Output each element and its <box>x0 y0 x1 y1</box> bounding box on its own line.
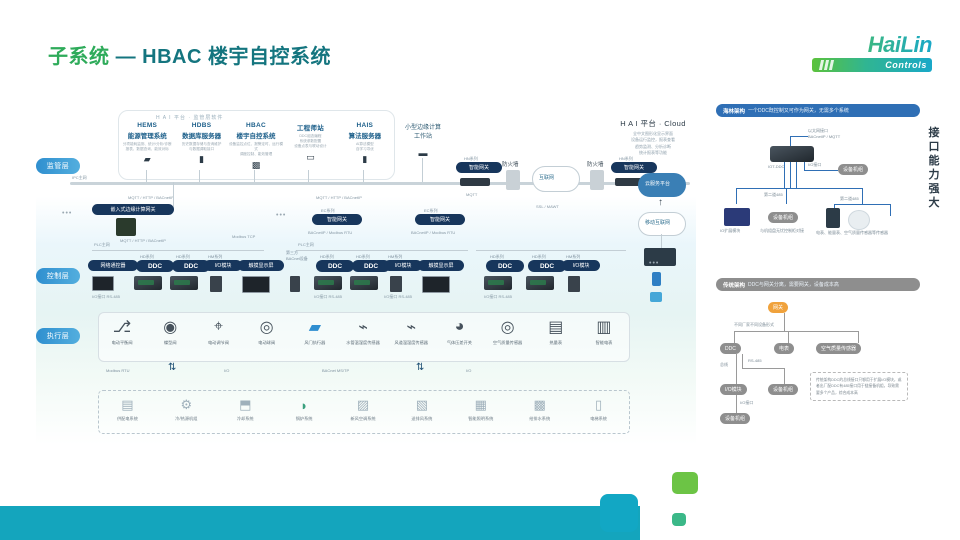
io-bus-label-2: I/O接口 RS-485 <box>314 294 342 300</box>
gateway-pill-left[interactable]: 智能网关 <box>456 162 502 173</box>
control-node-touch-2[interactable]: 触摸显示屏 <box>418 260 464 271</box>
ddc-device-3 <box>314 276 342 290</box>
hai-cloud-desc: 全中文图形化显示界面 设备运行监控，报表查看 趋势监测、分析诊断 统计报表等功能 <box>608 131 698 157</box>
io-bus-label-3: I/O接口 RS-485 <box>384 294 412 300</box>
supervisory-card-hdbs[interactable]: HDBS 数据库服务器 历史数据存储与查询维护 与数据调取接口 ▮ <box>174 122 228 171</box>
ball-valve-icon: ◎ <box>243 314 291 340</box>
gateway-label: 智能网关 <box>624 164 644 171</box>
traditional-link-label-bus: 总线 <box>720 362 728 368</box>
drop-line <box>146 170 147 182</box>
firewall-icon-left <box>506 170 520 190</box>
card-desc: 分项能耗监测、统计/分析/诊断 报表、数据查询、能效对标 <box>120 142 174 152</box>
exec-device-control-valve[interactable]: ⌖ 电动调节阀 <box>194 314 242 346</box>
server-rack-icon: ▩ <box>229 160 283 171</box>
ec-gateway-label: 智能网关 <box>327 216 347 223</box>
traditional-architecture-header: 传统架构 DDC与网关分离，需要网关，设备成本高 <box>716 278 920 291</box>
protocol-label-mqtt: MQTT <box>466 192 477 197</box>
power-supply-icon: ▤ <box>98 394 157 416</box>
workstation-icon: ▭ <box>283 152 337 163</box>
port-label-ethernet: 以太网接口 BACnetIP / MQTT <box>808 128 840 140</box>
system-cooling[interactable]: ⬒ 冷却系统 <box>216 394 275 422</box>
hailin-badge: 海林架构 <box>723 107 745 115</box>
modbus-tcp-label: Modbus TCP <box>232 234 255 239</box>
chiller-icon: ⚙ <box>157 394 216 416</box>
protocol-label-ssl: SSL / MAWT <box>536 204 559 209</box>
control-node-ddc-5[interactable]: DDC <box>486 260 524 272</box>
exec-device-label: 空气质量传感器 <box>484 340 532 346</box>
node-label: DDC <box>328 263 342 270</box>
exec-protocol-0: Modbus RTU <box>106 368 130 373</box>
ai-server-icon: ▮ <box>338 154 392 165</box>
cloud-platform-label: 云服务平台 <box>645 180 670 187</box>
monitor-icon: ▰ <box>120 154 174 165</box>
meter-device <box>826 208 840 228</box>
mobile-drop-line <box>661 234 662 248</box>
connector <box>784 313 785 331</box>
system-water[interactable]: ▩ 给排水系统 <box>510 394 569 422</box>
exec-device-label: 水管温湿度传感器 <box>339 340 387 346</box>
traditional-subtitle: DDC与网关分离，需要网关，设备成本高 <box>748 281 839 288</box>
deco-square-teal <box>672 513 686 526</box>
system-label: 冷却系统 <box>216 416 275 422</box>
layer-pill-supervisory: 监管层 <box>36 158 80 174</box>
layer-label-execution: 执行层 <box>47 331 70 341</box>
hailin-architecture-header: 海林架构 一个DDC既控制又可作为网关，无需多个系统 <box>716 104 920 117</box>
equipment-node-2[interactable]: 设备机组 <box>768 212 798 223</box>
exec-device-label: 电动平衡阀 <box>98 340 146 346</box>
connector <box>784 162 785 188</box>
traditional-link-label-io: I/O接口 <box>740 400 753 406</box>
system-boiler[interactable]: ◗ 锅炉系统 <box>275 394 334 422</box>
connector <box>862 188 863 204</box>
system-lighting[interactable]: ▦ 智能照明系统 <box>451 394 510 422</box>
card-desc: DDC组态编程 系统参数配置 设备点表与联动设计 <box>283 134 337 150</box>
bus-label-485-2: 第二道485 <box>840 196 859 202</box>
node-label: DDC <box>364 263 378 270</box>
damper-actuator-icon: ▰ <box>291 314 339 340</box>
system-ventilation[interactable]: ▧ 送排风系统 <box>392 394 451 422</box>
connector <box>734 331 735 343</box>
traditional-link-label-top: 不同厂家不同设备形式 <box>734 322 774 328</box>
connector <box>742 354 743 368</box>
bacnet-third-party-tag: 第三方 BACnet设备 <box>286 250 308 261</box>
card-code: HAIS <box>338 122 392 129</box>
system-chiller[interactable]: ⚙ 冷/热源机组 <box>157 394 216 422</box>
card-name: 能源管理系统 <box>120 130 174 140</box>
ellipsis-mid: ••• <box>276 212 286 219</box>
deco-square-green <box>672 472 698 494</box>
firewall-label-right: 防火墙 <box>587 160 604 168</box>
exec-device-pipe-sensor[interactable]: ⌁ 水管温湿度传感器 <box>339 314 387 346</box>
node-label: I/O模块 <box>725 386 742 393</box>
edge-workstation-node[interactable]: 小型边缘计算 工作站 ▬ <box>394 124 452 158</box>
card-name: 数据库服务器 <box>174 130 228 140</box>
hai-cloud-block: H A I 平台 · Cloud 全中文图形化显示界面 设备运行监控，报表查看 … <box>608 118 698 157</box>
equipment-node-1[interactable]: 设备机组 <box>838 164 868 175</box>
logo-subtext: Controls <box>885 60 927 70</box>
controller-device-1 <box>92 276 114 291</box>
node-label: 触摸显示屏 <box>428 262 453 269</box>
system-elevator[interactable]: ▯ 电梯系统 <box>569 394 628 422</box>
drop-line <box>308 170 309 182</box>
node-label: I/O模块 <box>215 262 232 269</box>
ahu-icon: ▨ <box>334 394 393 416</box>
system-label: 新风空调系统 <box>334 416 393 422</box>
node-label: 空气质量传感器 <box>821 345 856 352</box>
tablet-icon <box>650 292 662 302</box>
firewall-icon-right <box>590 170 604 190</box>
control-node-ddc-1[interactable]: DDC <box>136 260 174 272</box>
io-device-2 <box>390 276 402 292</box>
edge-pc-icon: ▬ <box>394 148 452 158</box>
server-icon: ▮ <box>174 154 228 165</box>
third-party-device <box>290 276 300 292</box>
deco-bar-cyan <box>0 506 640 540</box>
node-label: DDC <box>725 346 736 352</box>
drop-line <box>254 170 255 182</box>
node-label: 触摸显示屏 <box>248 262 273 269</box>
embedded-gateway-pill[interactable]: 嵌入式边缘计算网关 <box>92 204 174 215</box>
card-name: 算法服务器 <box>338 130 392 140</box>
card-desc: AI算法模型 自学习寻优 <box>338 142 392 152</box>
card-code: 工程师站 <box>283 122 337 132</box>
exec-device-pressure-switch[interactable]: ◕ 气体压差开关 <box>435 314 483 346</box>
trunk-bus <box>734 331 858 332</box>
page-title: 子系统 — HBAC 楼宇自控系统 <box>48 40 331 69</box>
air-quality-icon: ◎ <box>484 314 532 340</box>
traditional-gateway-node[interactable]: 网关 <box>768 302 788 313</box>
system-label: 电梯系统 <box>569 416 628 422</box>
leaf-label-3: 电表、能量表、空气质量传感器等传感器 <box>816 230 888 236</box>
traditional-meter-node[interactable]: 电表 <box>774 343 794 354</box>
butterfly-valve-icon: ◉ <box>146 314 194 340</box>
card-code: HEMS <box>120 122 174 129</box>
traditional-note-text: 传统架构DDC的总线接口只够用于扩展I/O模块，或者出厂配DDC有485接口用于… <box>816 377 902 396</box>
gateway-pill-right[interactable]: 智能网关 <box>611 162 657 173</box>
supervisory-card-engineer[interactable]: 工程师站 DDC组态编程 系统参数配置 设备点表与联动设计 ▭ <box>283 122 337 171</box>
execution-device-list: ⎇ 电动平衡阀 ◉ 蝶型阀 ⌖ 电动调节阀 ◎ 电动球阀 ▰ 风门执行器 ⌁ 水… <box>98 314 628 346</box>
protocol-label-right: MQTT / HTTP / BACnetIP <box>316 195 362 200</box>
protocol-label-main: MQTT / HTTP / BACnetIP <box>128 195 174 200</box>
mobile-internet-label: 移动互联网 <box>645 219 670 226</box>
node-label: 电表 <box>779 345 789 352</box>
elevator-icon: ▯ <box>569 394 628 416</box>
slide-root: 子系统 — HBAC 楼宇自控系统 HaiLin Controls 监管层 控制… <box>0 0 960 540</box>
connector <box>784 368 785 384</box>
exec-device-label: 风门执行器 <box>291 340 339 346</box>
exec-device-label: 热量表 <box>532 340 580 346</box>
node-label: DDC <box>184 263 198 270</box>
exec-device-damper-actuator[interactable]: ▰ 风门执行器 <box>291 314 339 346</box>
traditional-badge: 传统架构 <box>723 281 745 289</box>
water-system-icon: ▩ <box>510 394 569 416</box>
ddc-device-1 <box>134 276 162 290</box>
embedded-gateway-label: 嵌入式边缘计算网关 <box>110 206 155 213</box>
leaf-label-2: 与机组盘无忧控制柜对接 <box>760 228 804 234</box>
card-name: 楼宇自控系统 <box>229 130 283 140</box>
card-desc: 历史数据存储与查询维护 与数据调取接口 <box>174 142 228 152</box>
exec-device-duct-sensor[interactable]: ⌁ 风道温湿度传感器 <box>387 314 435 346</box>
io-device-3 <box>568 276 580 292</box>
pressure-switch-icon: ◕ <box>435 314 483 340</box>
node-label: 设备机组 <box>773 386 793 393</box>
hai-platform-strip: H A I 平台 · 监管层软件 <box>156 114 223 121</box>
connector <box>858 331 859 343</box>
iot-ddc-device[interactable] <box>770 146 814 162</box>
bottom-decoration <box>0 450 960 540</box>
system-label: 智能照明系统 <box>451 416 510 422</box>
protocol-label-gateway: MQTT / HTTP / BACnetIP <box>120 238 166 243</box>
node-label: I/O模块 <box>395 262 412 269</box>
bidirectional-arrow-icon-1: ⇅ <box>168 363 176 373</box>
control-valve-icon: ⌖ <box>194 314 242 340</box>
touchscreen-device-1 <box>242 276 270 293</box>
logo-wordmark: HaiLin <box>812 34 932 56</box>
ventilation-icon: ▧ <box>392 394 451 416</box>
exec-protocol-2: BACnet MS/TP <box>322 368 349 373</box>
connector <box>736 188 737 204</box>
control-node-ddc-6[interactable]: DDC <box>528 260 566 272</box>
bidirectional-arrow-icon-2: ⇅ <box>416 363 424 373</box>
air-quality-device <box>848 210 870 230</box>
ddc-device-5 <box>484 276 512 290</box>
node-label: DDC <box>540 263 554 270</box>
node-label: DDC <box>148 263 162 270</box>
control-node-io-2[interactable]: I/O模块 <box>384 260 422 271</box>
exec-device-label: 电动调节阀 <box>194 340 242 346</box>
system-power-supply[interactable]: ▤ 供配电系统 <box>98 394 157 422</box>
node-label: 网络通控器 <box>100 262 125 269</box>
connector <box>796 162 797 188</box>
valve-icon: ⎇ <box>98 314 146 340</box>
ec-protocol-1: BACnetIP / Modbus RTU <box>308 230 352 235</box>
ec-gateway-pill-1[interactable]: 智能网关 <box>312 214 362 225</box>
ellipsis-left: ••• <box>62 210 72 217</box>
plc-bus-label-left: PLC主网 <box>94 242 110 248</box>
leaf-label-1: IO扩展模块 <box>720 228 740 234</box>
system-label: 给排水系统 <box>510 416 569 422</box>
hai-cloud-title: H A I 平台 · Cloud <box>608 118 698 129</box>
logo-stripes-icon <box>820 60 833 70</box>
trunk-bus <box>736 188 862 189</box>
io-device-1 <box>210 276 222 292</box>
plc-bus-left <box>92 250 264 251</box>
cloud-uplink-arrow-icon: ↑ <box>658 198 663 208</box>
gateway-label: 智能网关 <box>469 164 489 171</box>
bus-label-left: IPC主网 <box>72 175 87 181</box>
cooling-tower-icon: ⬒ <box>216 394 275 416</box>
connector <box>804 170 838 171</box>
exec-device-label: 蝶型阀 <box>146 340 194 346</box>
connector <box>736 395 737 413</box>
page-title-green: 子系统 <box>48 46 110 68</box>
ec-gateway-pill-2[interactable]: 智能网关 <box>415 214 465 225</box>
touchscreen-device-2 <box>422 276 450 293</box>
page-title-blue: — HBAC 楼宇自控系统 <box>116 46 331 68</box>
system-label: 锅炉系统 <box>275 416 334 422</box>
connector <box>742 368 784 369</box>
node-label: 设备机组 <box>725 415 745 422</box>
io-expansion-device <box>724 208 750 226</box>
traditional-air-sensor-node[interactable]: 空气质量传感器 <box>816 343 861 354</box>
exec-device-air-quality[interactable]: ◎ 空气质量传感器 <box>484 314 532 346</box>
connector <box>790 136 808 137</box>
io-bus-label-1: I/O接口 RS-485 <box>92 294 120 300</box>
ddc-device-6 <box>526 276 554 290</box>
exec-device-label: 气体压差开关 <box>435 340 483 346</box>
connector <box>890 204 891 216</box>
ec-protocol-2: BACnetIP / Modbus RTU <box>411 230 455 235</box>
smart-meter-icon: ▥ <box>580 314 628 340</box>
node-label: 设备机组 <box>843 166 863 173</box>
port-label-io: I/O接口 <box>808 162 821 168</box>
sub-bus <box>834 204 890 205</box>
node-label: 设备机组 <box>773 214 793 221</box>
ellipsis-far-right: ••• <box>649 260 659 267</box>
control-node-ddc-3[interactable]: DDC <box>316 260 354 272</box>
logo-bar: Controls <box>812 58 932 72</box>
control-node-io-3[interactable]: I/O模块 <box>562 260 600 271</box>
plc-bus-label-right: PLC主网 <box>298 242 314 248</box>
exec-device-balance-valve[interactable]: ⎇ 电动平衡阀 <box>98 314 146 346</box>
exec-protocol-3: I/O <box>466 368 471 373</box>
system-label: 供配电系统 <box>98 416 157 422</box>
connector <box>790 162 791 188</box>
node-label: DDC <box>498 263 512 270</box>
exec-device-butterfly-valve[interactable]: ◉ 蝶型阀 <box>146 314 194 346</box>
architecture-diagram: 监管层 控制层 执行层 H A I 平台 · 监管层软件 HEMS 能源管理系统… <box>36 100 696 445</box>
ddc-device-2 <box>170 276 198 290</box>
layer-pill-execution: 执行层 <box>36 328 80 344</box>
layer-pill-control: 控制层 <box>36 268 80 284</box>
exec-device-label: 智能电表 <box>580 340 628 346</box>
supervisory-card-hais[interactable]: HAIS 算法服务器 AI算法模型 自学习寻优 ▮ <box>338 122 392 171</box>
exec-device-smart-meter[interactable]: ▥ 智能电表 <box>580 314 628 346</box>
node-label: 网关 <box>773 304 783 311</box>
exec-device-label: 风道温湿度传感器 <box>387 340 435 346</box>
hailin-subtitle: 一个DDC既控制又可作为网关，无需多个系统 <box>748 107 849 114</box>
system-label: 冷/热源机组 <box>157 416 216 422</box>
traditional-io-node[interactable]: I/O模块 <box>720 384 747 395</box>
node-label: I/O模块 <box>573 262 590 269</box>
card-desc: 设备监控点位、报警定时、运行模式 调度控制、能效管理 <box>229 142 283 158</box>
traditional-equipment-node-2[interactable]: 设备机组 <box>720 413 750 424</box>
exec-device-label: 电动球阀 <box>243 340 291 346</box>
supervisory-card-list: HEMS 能源管理系统 分项能耗监测、统计/分析/诊断 报表、数据查询、能效对标… <box>120 122 392 171</box>
firewall-label-left: 防火墙 <box>502 160 519 168</box>
layer-label-supervisory: 监管层 <box>47 161 70 171</box>
exec-device-heat-meter[interactable]: ▤ 热量表 <box>532 314 580 346</box>
embedded-gateway-device <box>116 218 136 236</box>
traditional-note-box: 传统架构DDC的总线接口只够用于扩展I/O模块，或者出厂配DDC有485接口用于… <box>810 372 908 401</box>
plc-bus-right <box>296 250 468 251</box>
drop-line <box>422 158 423 182</box>
ddc-device-4 <box>350 276 378 290</box>
hailin-logo: HaiLin Controls <box>812 34 932 78</box>
control-node-io-1[interactable]: I/O模块 <box>204 260 242 271</box>
connector <box>804 162 805 170</box>
bus-label-485-1: 第二道485 <box>764 192 783 198</box>
heat-meter-icon: ▤ <box>532 314 580 340</box>
supervisory-card-hems[interactable]: HEMS 能源管理系统 分项能耗监测、统计/分析/诊断 报表、数据查询、能效对标… <box>120 122 174 171</box>
exec-device-ball-valve[interactable]: ◎ 电动球阀 <box>243 314 291 346</box>
control-node-touch-1[interactable]: 触摸显示屏 <box>238 260 284 271</box>
edge-workstation-label: 小型边缘计算 工作站 <box>394 124 452 142</box>
traditional-ddc-node[interactable]: DDC <box>720 343 741 354</box>
connector <box>736 354 737 384</box>
drop-line <box>199 170 200 182</box>
drop-line <box>363 170 364 182</box>
internet-label: 互联网 <box>539 174 554 181</box>
vertical-slogan: 接口能力强大 <box>926 126 942 210</box>
supervisory-card-hbac[interactable]: HBAC 楼宇自控系统 设备监控点位、报警定时、运行模式 调度控制、能效管理 ▩ <box>229 122 283 171</box>
lighting-icon: ▦ <box>451 394 510 416</box>
phone-icon <box>652 272 661 286</box>
iot-ddc-label: IOT-DDC <box>768 164 784 169</box>
pipe-sensor-icon: ⌁ <box>339 314 387 340</box>
connector <box>788 331 789 343</box>
io-bus-label-4: I/O接口 RS-485 <box>484 294 512 300</box>
card-code: HDBS <box>174 122 228 129</box>
control-node-network-controller[interactable]: 网络通控器 <box>88 260 138 271</box>
gateway-device-left <box>460 178 490 186</box>
ec-gateway-label: 智能网关 <box>430 216 450 223</box>
boiler-icon: ◗ <box>275 394 334 416</box>
right-comparison-panel: 海林架构 一个DDC既控制又可作为网关，无需多个系统 以太网接口 BACnetI… <box>712 100 944 445</box>
traditional-equipment-node-1[interactable]: 设备机组 <box>768 384 798 395</box>
duct-sensor-icon: ⌁ <box>387 314 435 340</box>
traditional-link-label-485: RS-485 <box>748 358 762 363</box>
connector <box>786 188 787 204</box>
systems-list: ▤ 供配电系统 ⚙ 冷/热源机组 ⬒ 冷却系统 ◗ 锅炉系统 ▨ 新风空调系统 … <box>98 394 628 422</box>
system-label: 送排风系统 <box>392 416 451 422</box>
system-ahu[interactable]: ▨ 新风空调系统 <box>334 394 393 422</box>
deco-square-cyan <box>600 494 638 532</box>
exec-protocol-1: I/O <box>224 368 229 373</box>
layer-label-control: 控制层 <box>47 271 70 281</box>
card-code: HBAC <box>229 122 283 129</box>
plc-bus-far-right <box>476 250 626 251</box>
